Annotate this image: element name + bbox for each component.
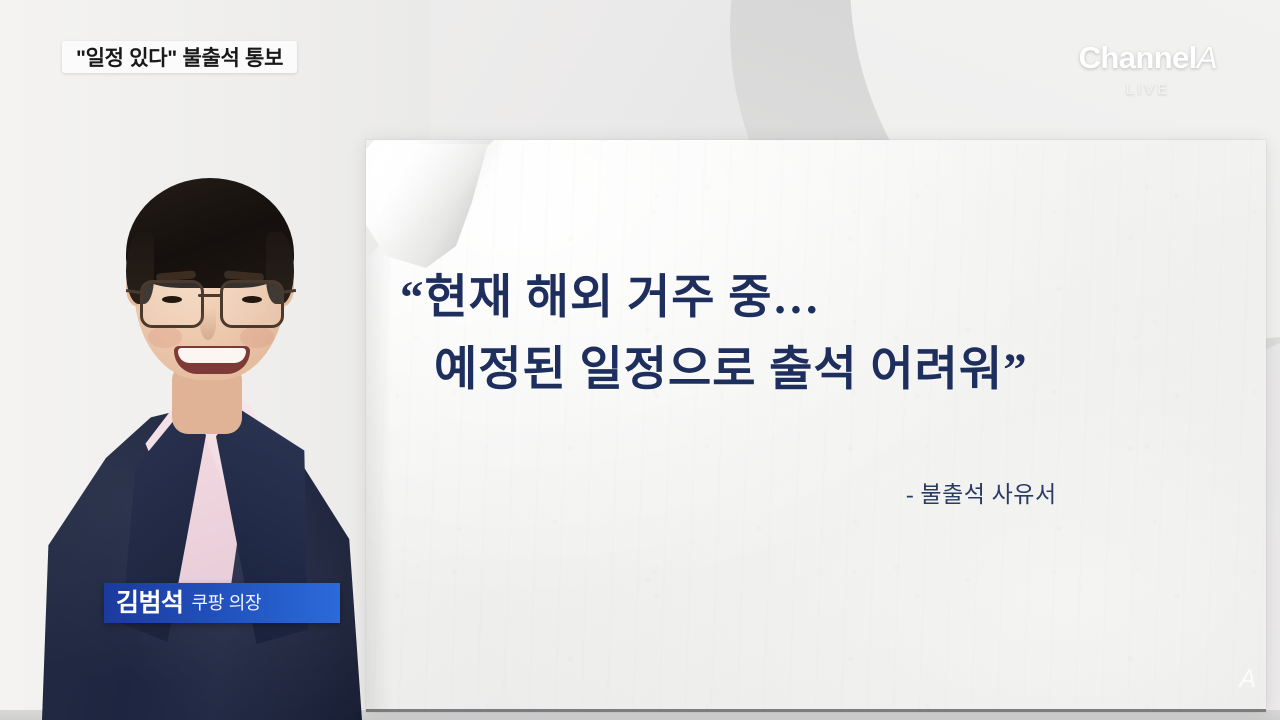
channel-logo: ChannelA LIVE — [1048, 42, 1248, 98]
live-badge: LIVE — [1048, 81, 1248, 98]
broadcast-screen: “현재 해외 거주 중… 예정된 일정으로 출석 어려워” - 불출석 사유서 … — [0, 0, 1280, 720]
channel-logo-a-icon: A — [1197, 40, 1218, 75]
mouth — [174, 346, 250, 374]
glasses-lens-left — [140, 280, 204, 328]
quote-line-2: 예정된 일정으로 출석 어려워” — [434, 334, 1160, 406]
headline-text: "일정 있다" 불출석 통보 — [76, 42, 283, 72]
corner-watermark-icon: A — [1239, 665, 1256, 694]
quote-block: “현재 해외 거주 중… 예정된 일정으로 출석 어려워” — [400, 262, 1160, 406]
quote-line-1: “현재 해외 거주 중… — [400, 262, 1160, 334]
cheek-left — [148, 326, 182, 348]
eye-left — [162, 296, 182, 303]
person-cutout — [30, 150, 370, 720]
headline-banner: "일정 있다" 불출석 통보 — [62, 41, 297, 73]
paper-bottom-edge — [366, 709, 1266, 712]
lower-third-nameplate: 김범석 쿠팡 의장 — [104, 583, 340, 623]
glasses-bridge — [198, 294, 222, 297]
cheek-right — [240, 326, 274, 348]
person-role: 쿠팡 의장 — [192, 594, 262, 612]
channel-logo-name: Channel — [1079, 40, 1197, 75]
person-name: 김범석 — [116, 591, 184, 616]
channel-logo-wordmark: ChannelA — [1048, 42, 1248, 73]
glasses-lens-right — [220, 280, 284, 328]
teeth — [178, 348, 246, 363]
eye-right — [242, 296, 262, 303]
paper-curl-corner — [366, 140, 546, 275]
nose — [200, 308, 216, 340]
quote-attribution: - 불출석 사유서 — [906, 475, 1057, 509]
